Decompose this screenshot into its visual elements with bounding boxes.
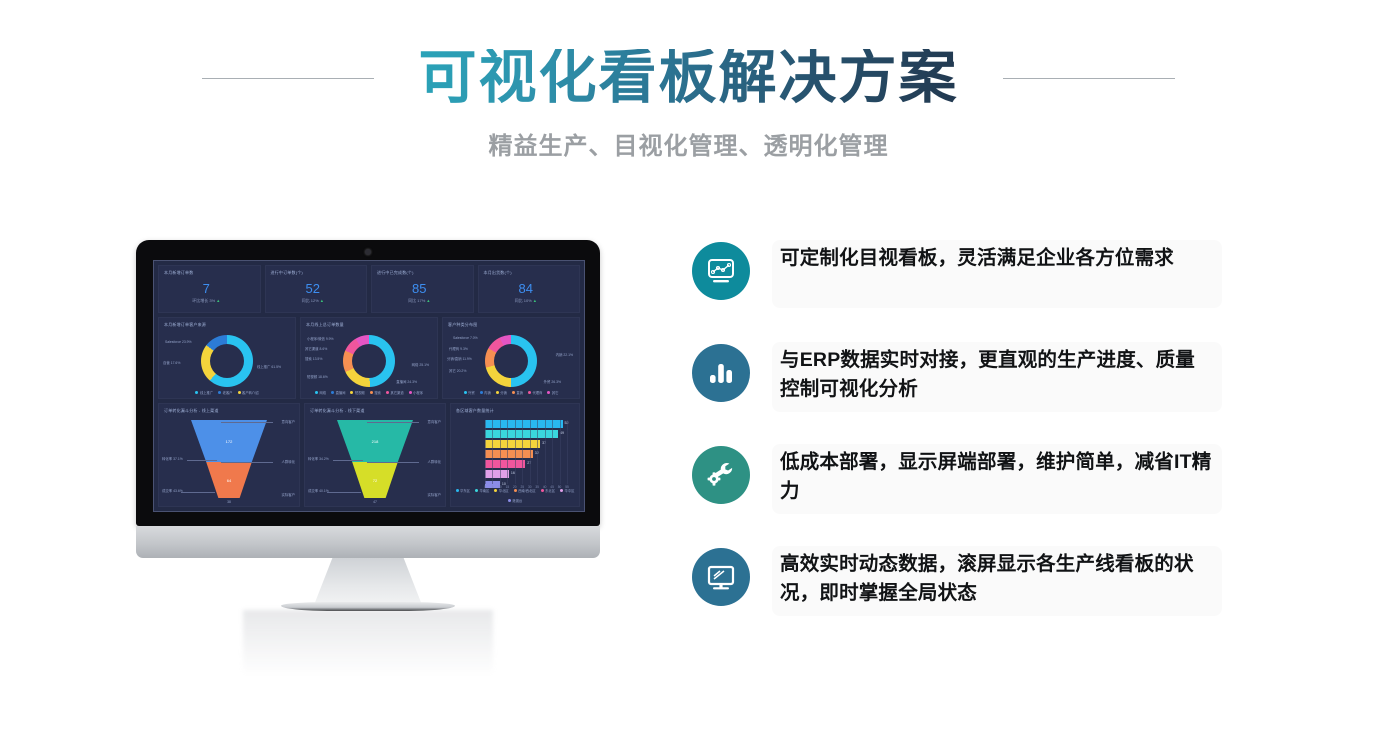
funnel-stage-label: 意向客户 xyxy=(281,419,295,424)
donut-title: 本月新增订单客户来源 xyxy=(164,322,206,328)
legend-item: 西南/西北区 xyxy=(514,488,536,493)
kpi-sub-value: 17% xyxy=(417,298,425,303)
legend-item: 华南区 xyxy=(475,488,489,493)
legend-item: 短视频 xyxy=(350,390,364,395)
kpi-row: 本月新增订单数 7 环比增长 3% ▲ 进行中订单数(个) 52 同比 12% … xyxy=(158,265,580,313)
kpi-sub-value: 12% xyxy=(311,298,319,303)
funnel-title: 订单转化漏斗分析 - 线下渠道 xyxy=(310,408,365,414)
monitor-bezel: 本月新增订单数 7 环比增长 3% ▲ 进行中订单数(个) 52 同比 12% … xyxy=(136,240,600,526)
trend-up-icon: ▲ xyxy=(426,298,430,303)
dashboard: 本月新增订单数 7 环比增长 3% ▲ 进行中订单数(个) 52 同比 12% … xyxy=(154,261,584,511)
trend-up-icon: ▲ xyxy=(533,298,537,303)
kpi-title: 本月出货数(个) xyxy=(484,270,512,276)
feature-text-panel: 低成本部署，显示屏端部署，维护简单，减省IT精力 xyxy=(772,444,1222,514)
funnel-rate-label: 成交率 40.1% xyxy=(308,488,329,493)
kpi-sub-label: 同比 xyxy=(515,298,523,303)
page-subtitle: 精益生产、目视化管理、透明化管理 xyxy=(0,126,1377,161)
kpi-sub-label: 同比 xyxy=(408,298,416,303)
donut-label: Salesforce 7.0% xyxy=(453,336,478,340)
feature-item[interactable]: 与ERP数据实时对接，更直观的生产进度、质量控制可视化分析 xyxy=(692,342,1222,444)
donut-chart xyxy=(343,335,395,387)
donut-label: 网络 25.1% xyxy=(412,362,429,367)
page-header: 可视化看板解决方案 精益生产、目视化管理、透明化管理 xyxy=(0,0,1377,180)
donut-label: 外贸 26.3% xyxy=(544,379,561,384)
kpi-card[interactable]: 进行中已完成数(个) 85 同比 17% ▲ xyxy=(371,265,474,313)
legend-item: 代理商 xyxy=(528,390,542,395)
kpi-value: 7 xyxy=(159,282,254,296)
gridline xyxy=(485,420,486,484)
gridline xyxy=(567,420,568,484)
bar xyxy=(485,460,525,468)
kpi-sub-label: 环比增长 xyxy=(192,298,208,303)
legend-item: 老客户 xyxy=(218,390,232,395)
bar-row: 32 xyxy=(485,450,567,458)
gridline xyxy=(545,420,546,484)
bar-chart-panel[interactable]: 各区域客户数量统计 52493732271610 051015202530354… xyxy=(450,403,580,507)
legend-item: 直销 xyxy=(512,390,523,395)
wrench-gear-icon xyxy=(692,446,750,504)
bar-chart-icon xyxy=(692,344,750,402)
feature-item[interactable]: 高效实时动态数据，滚屏显示各生产线看板的状况，即时掌握全局状态 xyxy=(692,546,1222,648)
funnel-stage-label: 人群转化 xyxy=(281,459,295,464)
funnel-rate-label: 成交率 43.6% xyxy=(162,488,183,493)
kpi-title: 本月新增订单数 xyxy=(164,270,193,276)
gridline xyxy=(530,420,531,484)
feature-text: 低成本部署，显示屏端部署，维护简单，减省IT精力 xyxy=(780,448,1212,506)
legend-item: 客户转介绍 xyxy=(238,390,259,395)
trend-up-icon: ▲ xyxy=(216,298,220,303)
funnel-chart-panel[interactable]: 订单转化漏斗分析 - 线下渠道 218 72 意向客户 人群转化 实际客户 转化… xyxy=(304,403,446,507)
funnel-segment: 172 xyxy=(191,420,267,462)
funnel-segment: 218 xyxy=(337,420,413,462)
funnel-rate-label: 转化率 37.1% xyxy=(162,456,183,461)
bar-chart-legend: 华东区华南区华北区西南/西北区东北区华中区港澳台 xyxy=(451,488,579,503)
gridline xyxy=(515,420,516,484)
monitor-neck xyxy=(314,558,422,605)
donut-chart-panel[interactable]: 本月新增订单客户来源 Salesforce 23.9% 自营 17.6% 线上推… xyxy=(158,317,296,399)
funnel-rate-label: 转化率 34.2% xyxy=(308,456,329,461)
funnel-title: 订单转化漏斗分析 - 线上渠道 xyxy=(164,408,219,414)
legend-item: 港澳台 xyxy=(508,498,522,503)
kpi-subtext: 同比 10% ▲ xyxy=(479,298,574,304)
kpi-title: 进行中订单数(个) xyxy=(271,270,303,276)
feature-text-panel: 与ERP数据实时对接，更直观的生产进度、质量控制可视化分析 xyxy=(772,342,1222,412)
feature-text: 高效实时动态数据，滚屏显示各生产线看板的状况，即时掌握全局状态 xyxy=(780,550,1212,608)
gridline xyxy=(560,420,561,484)
bar-chart-title: 各区域客户数量统计 xyxy=(456,408,494,414)
monitor-screen: 本月新增订单数 7 环比增长 3% ▲ 进行中订单数(个) 52 同比 12% … xyxy=(153,260,585,512)
feature-text: 与ERP数据实时对接，更直观的生产进度、质量控制可视化分析 xyxy=(780,346,1212,404)
monitor-chin xyxy=(136,526,600,558)
funnel-bottom-value: 38 xyxy=(227,500,231,504)
feature-item[interactable]: 低成本部署，显示屏端部署，维护简单，减省IT精力 xyxy=(692,444,1222,546)
monitor-reflection xyxy=(243,610,493,676)
donut-legend: 线上推广 老客户 客户转介绍 xyxy=(159,390,295,395)
kpi-subtext: 环比增长 3% ▲ xyxy=(159,298,254,304)
kpi-sub-label: 同比 xyxy=(302,298,310,303)
feature-item[interactable]: 可定制化目视看板，灵活满足企业各方位需求 xyxy=(692,240,1222,342)
bar-row: 37 xyxy=(485,440,567,448)
donut-chart xyxy=(485,335,537,387)
funnel-chart: 218 72 xyxy=(337,420,413,498)
trend-up-icon: ▲ xyxy=(320,298,324,303)
kpi-sub-value: 10% xyxy=(524,298,532,303)
gridline xyxy=(522,420,523,484)
feature-text-panel: 可定制化目视看板，灵活满足企业各方位需求 xyxy=(772,240,1222,308)
title-rule-left xyxy=(202,78,374,79)
kpi-value: 52 xyxy=(266,282,361,296)
webcam-dot-icon xyxy=(365,249,371,255)
feature-list: 可定制化目视看板，灵活满足企业各方位需求 与ERP数据实时对接，更直观的生产进度… xyxy=(692,240,1222,648)
donut-title: 客户种类分布图 xyxy=(448,322,477,328)
gridline xyxy=(552,420,553,484)
bar xyxy=(485,470,509,478)
donut-label: 其它渠道 8.6% xyxy=(305,346,327,351)
bar-chart: 52493732271610 xyxy=(485,420,567,484)
bar-value: 49 xyxy=(560,431,564,435)
legend-item: 内销 xyxy=(480,390,491,395)
legend-item: 直播间 xyxy=(331,390,345,395)
gridline xyxy=(492,420,493,484)
feature-text: 可定制化目视看板，灵活满足企业各方位需求 xyxy=(780,244,1212,273)
donut-label: 其它 20.2% xyxy=(449,368,466,373)
gridline xyxy=(500,420,501,484)
feature-text-panel: 高效实时动态数据，滚屏显示各生产线看板的状况，即时掌握全局状态 xyxy=(772,546,1222,616)
kpi-subtext: 同比 12% ▲ xyxy=(266,298,361,304)
legend-item: 其它 xyxy=(547,390,558,395)
legend-item: 分销 xyxy=(496,390,507,395)
donut-chart-panel[interactable]: 客户种类分布图 Salesforce 7.0% 代理商 9.3% 分销/直销 1… xyxy=(442,317,580,399)
legend-item: 华北区 xyxy=(494,488,508,493)
gridline xyxy=(507,420,508,484)
bar xyxy=(485,420,563,428)
legend-item: 华东区 xyxy=(456,488,470,493)
donut-label: 搜索 13.5% xyxy=(305,356,322,361)
donut-label: 直播间 24.3% xyxy=(396,379,417,384)
bar-row: 52 xyxy=(485,420,567,428)
funnel-stage-label: 实际客户 xyxy=(427,492,441,497)
donut-label: 自营 17.6% xyxy=(163,360,180,365)
bar-row: 27 xyxy=(485,460,567,468)
donut-legend: 外贸 内销 分销 直销 代理商 其它 xyxy=(443,390,579,395)
donut-legend: 网络 直播间 短视频 搜索 其它渠道 小程序 xyxy=(301,390,437,395)
monitor-display-icon xyxy=(692,548,750,606)
gridline xyxy=(537,420,538,484)
donut-label: 短视频 18.6% xyxy=(307,374,328,379)
legend-item: 小程序 xyxy=(409,390,423,395)
monitor-line-chart-icon xyxy=(692,242,750,300)
funnel-stage-label: 意向客户 xyxy=(427,419,441,424)
funnel-chart-panel[interactable]: 订单转化漏斗分析 - 线上渠道 172 64 意向客户 人群转化 实际客户 转化… xyxy=(158,403,300,507)
kpi-value: 85 xyxy=(372,282,467,296)
funnel-bar-row: 订单转化漏斗分析 - 线上渠道 172 64 意向客户 人群转化 实际客户 转化… xyxy=(158,403,580,507)
kpi-sub-value: 3% xyxy=(209,298,215,303)
title-rule-right xyxy=(1003,78,1175,79)
kpi-value: 84 xyxy=(479,282,574,296)
kpi-subtext: 同比 17% ▲ xyxy=(372,298,467,304)
legend-item: 华中区 xyxy=(560,488,574,493)
bar-row: 49 xyxy=(485,430,567,438)
legend-item: 其它渠道 xyxy=(386,390,404,395)
donut-chart xyxy=(201,335,253,387)
donut-row: 本月新增订单客户来源 Salesforce 23.9% 自营 17.6% 线上推… xyxy=(158,317,580,399)
title-row: 可视化看板解决方案 xyxy=(0,42,1377,114)
donut-title: 本月线上总订单数量 xyxy=(306,322,344,328)
kpi-card[interactable]: 进行中订单数(个) 52 同比 12% ▲ xyxy=(265,265,368,313)
legend-item: 外贸 xyxy=(464,390,475,395)
donut-label: 线上推广 61.5% xyxy=(257,364,281,369)
funnel-bottom-value: 47 xyxy=(373,500,377,504)
funnel-stage-label: 人群转化 xyxy=(427,459,441,464)
page-title: 可视化看板解决方案 xyxy=(418,49,958,107)
kpi-card[interactable]: 本月出货数(个) 84 同比 10% ▲ xyxy=(478,265,581,313)
legend-item: 东北区 xyxy=(541,488,555,493)
donut-label: 分销/直销 11.9% xyxy=(447,356,472,361)
kpi-card[interactable]: 本月新增订单数 7 环比增长 3% ▲ xyxy=(158,265,261,313)
legend-item: 线上推广 xyxy=(195,390,213,395)
kpi-title: 进行中已完成数(个) xyxy=(377,270,414,276)
bar-row: 16 xyxy=(485,470,567,478)
funnel-chart: 172 64 xyxy=(191,420,267,498)
legend-item: 搜索 xyxy=(370,390,381,395)
donut-label: Salesforce 23.9% xyxy=(165,340,192,344)
donut-label: 代理商 9.3% xyxy=(449,346,468,351)
funnel-stage-label: 实际客户 xyxy=(281,492,295,497)
donut-label: 小程序/微信 9.9% xyxy=(307,336,334,341)
donut-label: 内销 22.1% xyxy=(556,352,573,357)
legend-item: 网络 xyxy=(315,390,326,395)
donut-chart-panel[interactable]: 本月线上总订单数量 小程序/微信 9.9% 其它渠道 8.6% 搜索 13.5%… xyxy=(300,317,438,399)
